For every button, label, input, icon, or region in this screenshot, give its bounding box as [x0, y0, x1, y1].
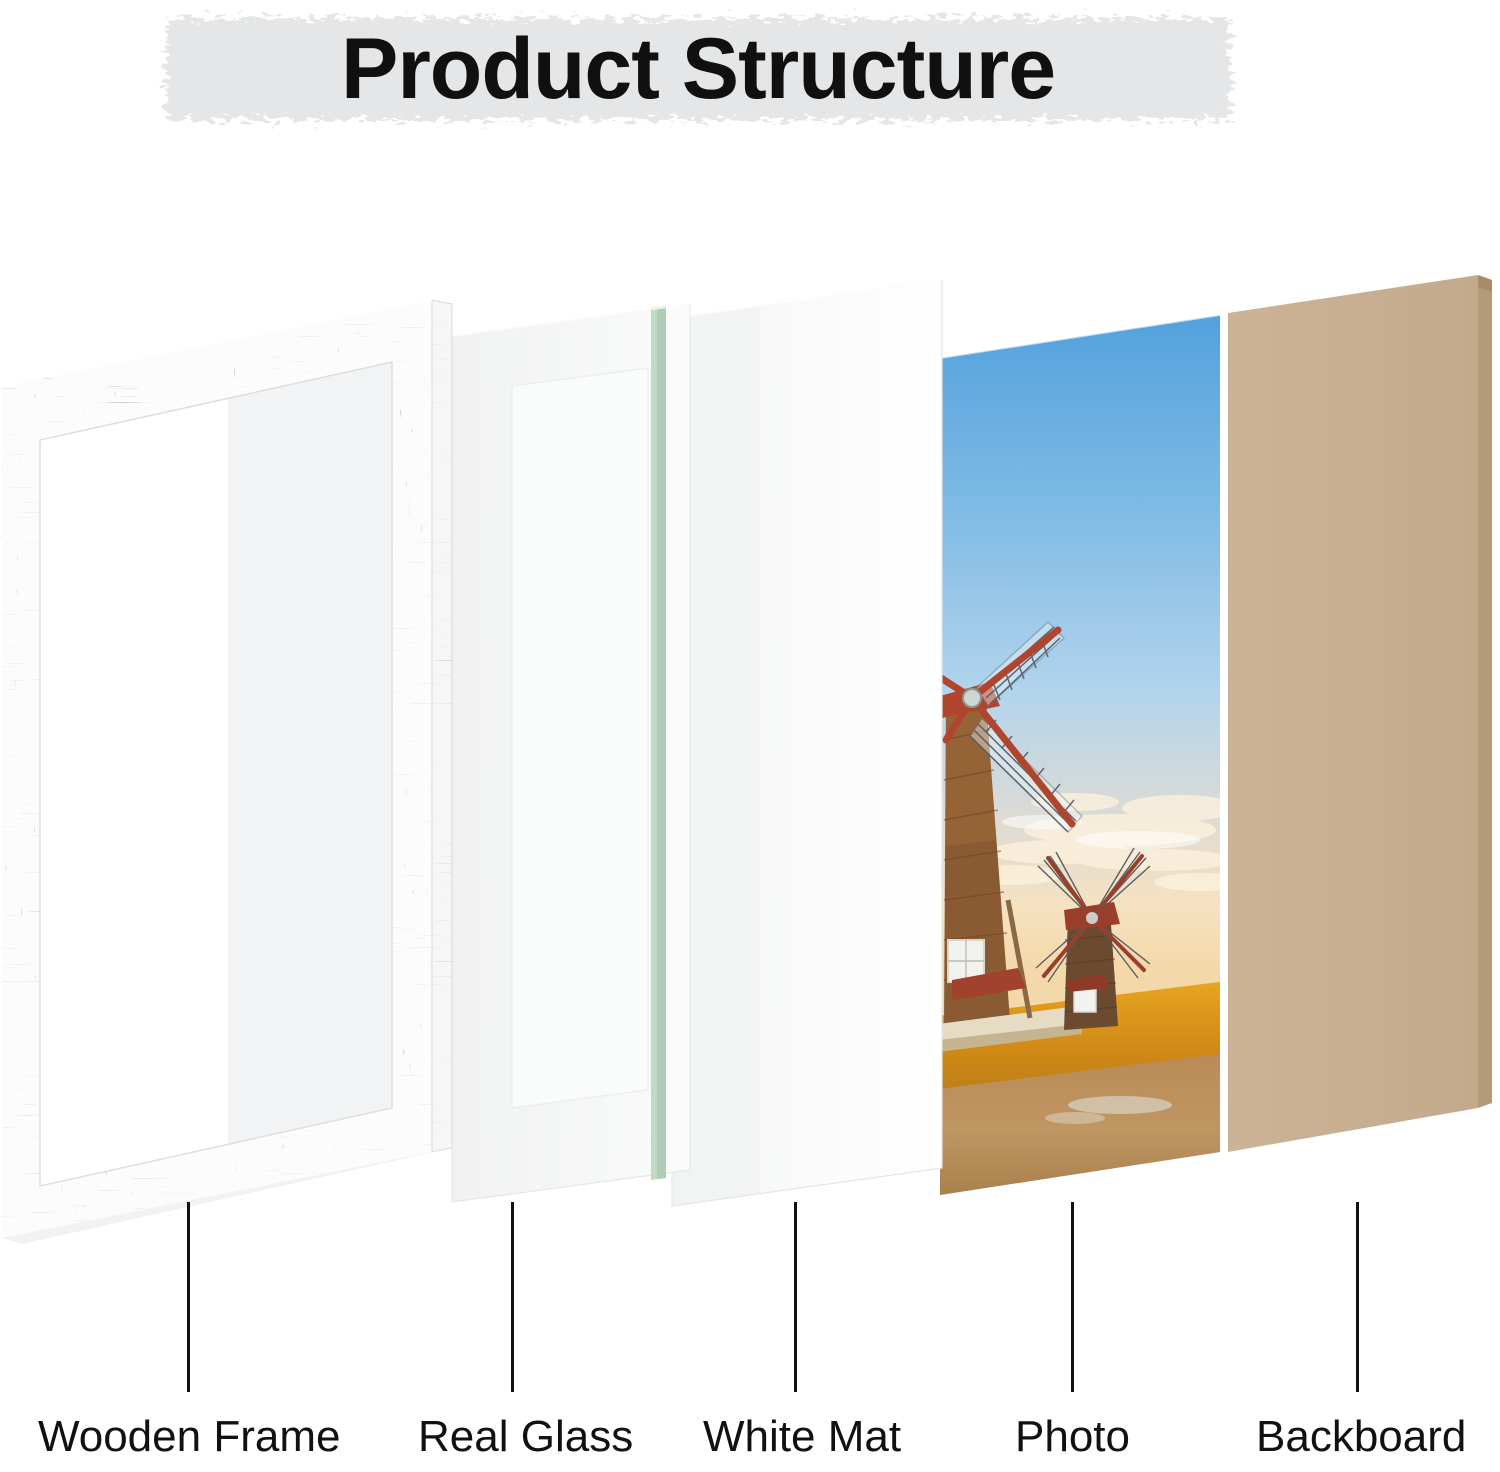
- label-backboard: Backboard: [1256, 1412, 1466, 1462]
- layer-wooden-frame: [2, 300, 452, 1244]
- label-white-mat: White Mat: [703, 1412, 901, 1462]
- exploded-view-diagram: [0, 140, 1500, 1250]
- title-banner: Product Structure: [148, 8, 1248, 130]
- label-photo: Photo: [1015, 1412, 1130, 1462]
- layer-real-glass: [452, 304, 690, 1202]
- layer-backboard: [1228, 270, 1492, 1160]
- label-wooden-frame: Wooden Frame: [38, 1412, 340, 1462]
- layer-photo: [930, 300, 1246, 1205]
- layer-white-mat: [672, 280, 942, 1206]
- label-real-glass: Real Glass: [418, 1412, 633, 1462]
- page-title: Product Structure: [148, 8, 1248, 130]
